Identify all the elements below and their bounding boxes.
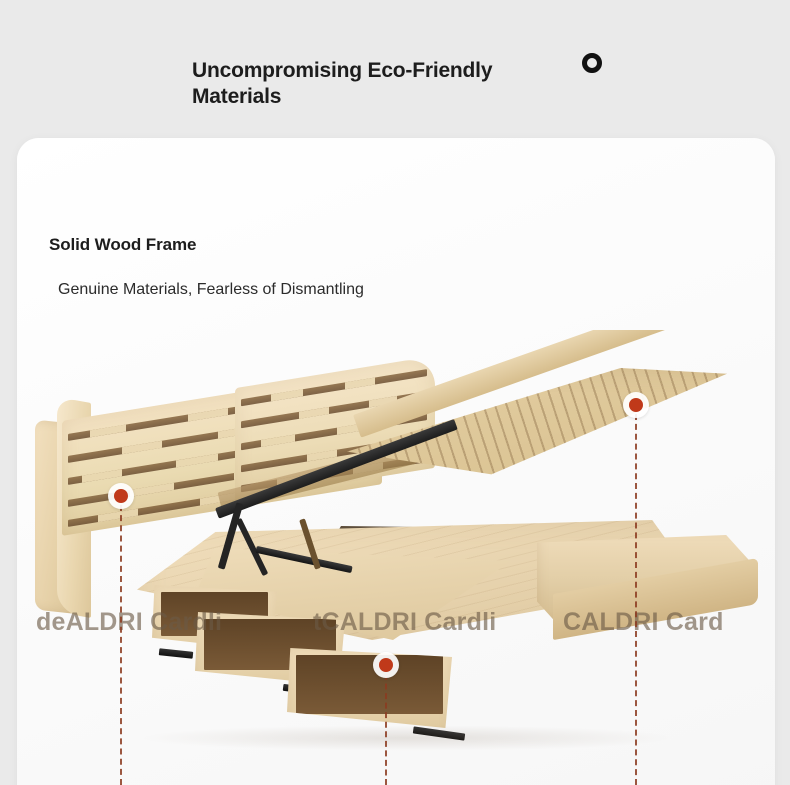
callout-marker-drawer[interactable] <box>373 652 399 678</box>
callout-line-headboard <box>120 505 122 785</box>
drawer-interior <box>296 655 443 714</box>
callout-line-platform <box>635 414 637 785</box>
circle-outline-icon <box>582 53 602 73</box>
product-photo <box>17 330 775 785</box>
callout-marker-headboard[interactable] <box>108 483 134 509</box>
screenshot-root: Uncompromising Eco-Friendly Materials So… <box>0 0 790 785</box>
drawer-slide-1 <box>159 648 194 659</box>
floor-shadow <box>137 725 677 751</box>
page-title: Uncompromising Eco-Friendly Materials <box>192 58 552 110</box>
callout-line-drawer <box>385 674 387 785</box>
callout-marker-platform[interactable] <box>623 392 649 418</box>
feature-title: Solid Wood Frame <box>49 235 196 255</box>
feature-description: Genuine Materials, Fearless of Dismantli… <box>58 278 388 302</box>
